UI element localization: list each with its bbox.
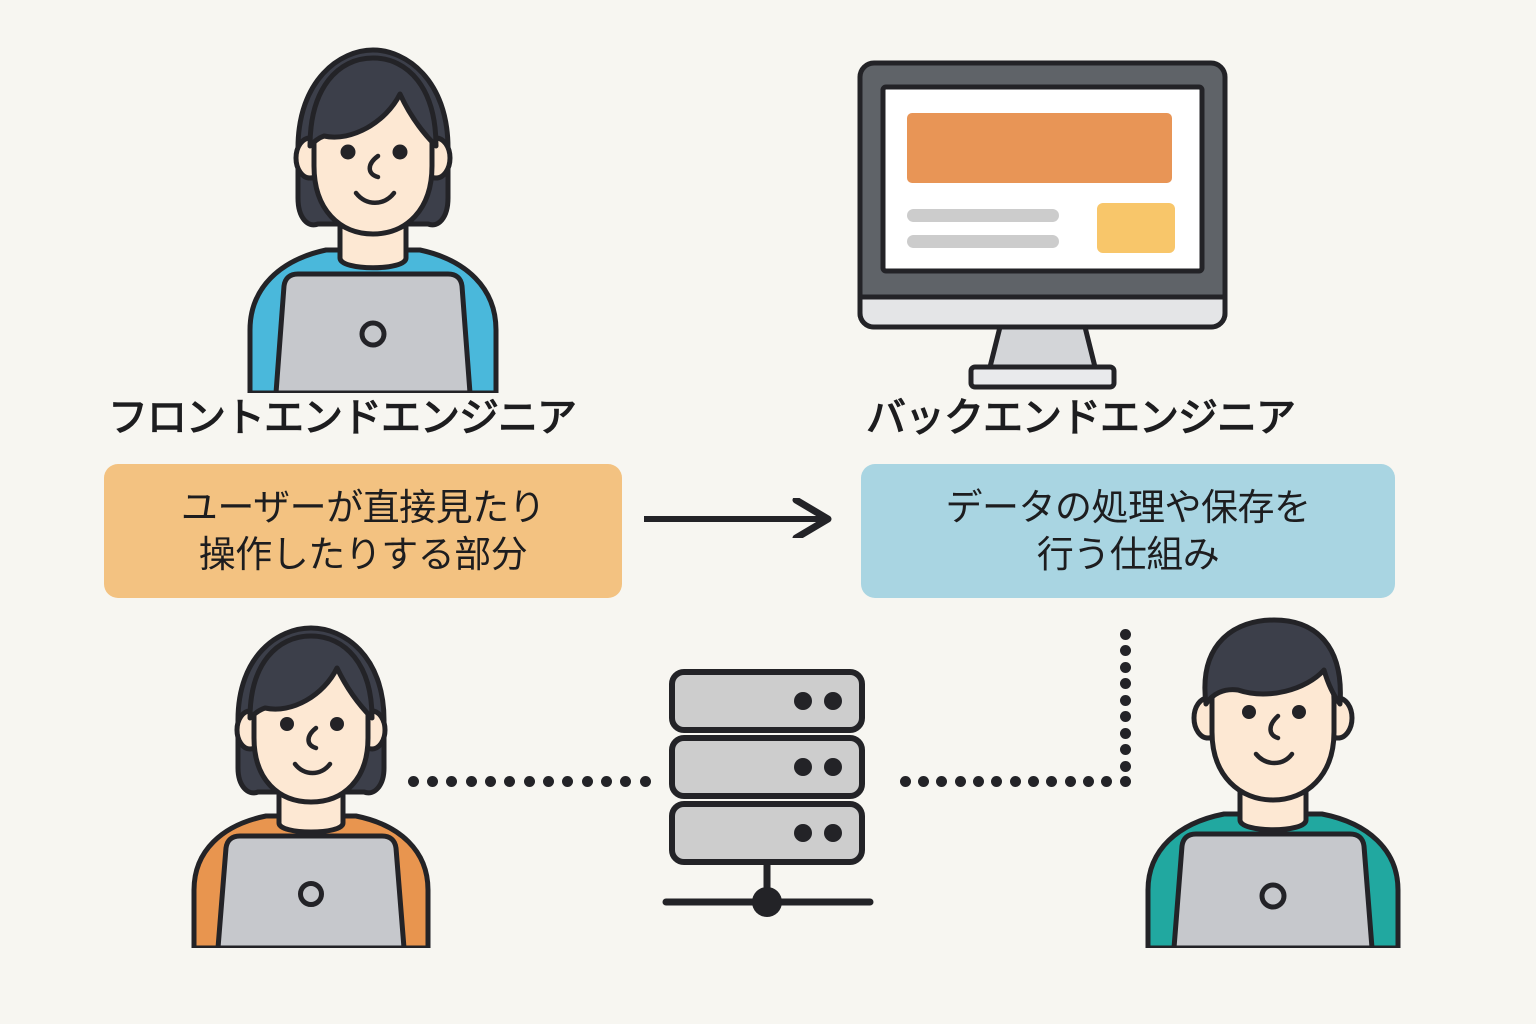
connector-dot-left [485,776,496,787]
frontend-description-line-2: 操作したりする部分 [199,531,528,578]
connector-dot-right-horizontal [1028,776,1039,787]
connector-dot-right-horizontal [1120,776,1131,787]
connector-dot-right-horizontal [1010,776,1021,787]
connector-dot-right-vertical [1120,678,1131,689]
connector-dot-right-vertical [1120,695,1131,706]
connector-dot-right-vertical [1120,629,1131,640]
backend-monitor-icon [845,45,1240,395]
connector-dot-left [524,776,535,787]
connector-dot-right-vertical [1120,645,1131,656]
connector-dot-right-horizontal [991,776,1002,787]
connector-dot-right-horizontal [936,776,947,787]
connector-dot-right-horizontal [973,776,984,787]
connector-dot-left [427,776,438,787]
connector-dot-left [466,776,477,787]
connector-dot-right-horizontal [900,776,911,787]
connector-dot-left [446,776,457,787]
frontend-description-line-1: ユーザーが直接見たり [181,484,545,531]
connector-dot-right-horizontal [918,776,929,787]
connector-dot-right-vertical [1120,744,1131,755]
frontend-person-icon [228,38,518,393]
connector-dot-right-horizontal [1101,776,1112,787]
backend-role-label: バックエンドエンジニア [866,398,1295,438]
connector-dot-left [543,776,554,787]
connector-dot-right-vertical [1120,711,1131,722]
connector-dot-right-horizontal [1046,776,1057,787]
connector-dot-right-vertical [1120,662,1131,673]
connector-dot-left [582,776,593,787]
backend-description-box: データの処理や保存を 行う仕組み [861,464,1395,598]
connector-dot-right-horizontal [955,776,966,787]
connector-dot-left [408,776,419,787]
frontend-bottom-person-icon [176,618,446,948]
backend-description-line-1: データの処理や保存を [946,484,1311,531]
backend-description-line-2: 行う仕組み [1037,531,1220,578]
connector-dot-left [504,776,515,787]
connector-dot-right-vertical [1120,728,1131,739]
connector-dot-right-vertical [1120,761,1131,772]
backend-bottom-person-icon [1128,608,1418,948]
connector-dot-left [640,776,651,787]
server-rack-icon [648,662,898,927]
connector-dot-left [620,776,631,787]
connector-dot-right-horizontal [1083,776,1094,787]
connector-dot-left [562,776,573,787]
frontend-description-box: ユーザーが直接見たり 操作したりする部分 [104,464,622,598]
frontend-role-label: フロントエンドエンジニア [108,398,576,438]
connector-dot-left [601,776,612,787]
diagram-canvas: フロントエンドエンジニア バックエンドエンジニア ユーザーが直接見たり 操作した… [0,0,1536,1024]
arrow-right-icon [640,498,840,543]
connector-dot-right-horizontal [1065,776,1076,787]
